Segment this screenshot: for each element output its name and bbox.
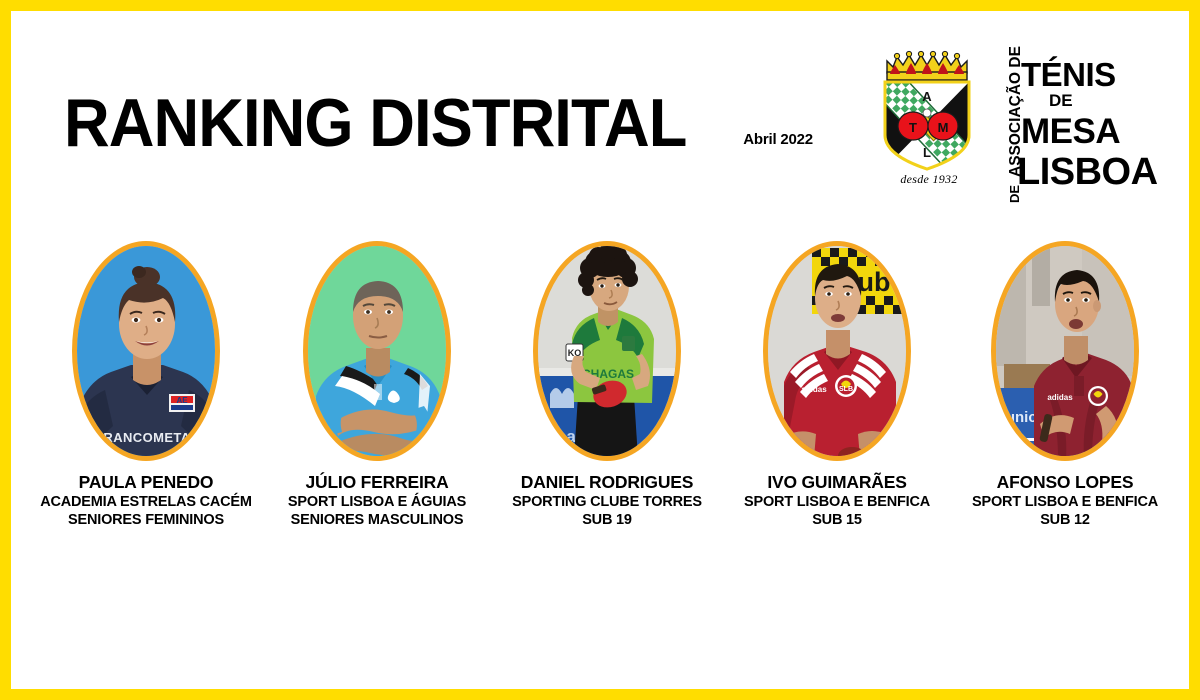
title-block: RANKING DISTRITALAbril 2022 [64,89,813,157]
logo-line-mesa: MESA [1021,115,1171,149]
player-card[interactable]: ub [722,241,952,529]
player-name: DANIEL RODRIGUES [492,472,722,493]
player-category: SUB 15 [722,512,952,529]
poster-canvas: RANKING DISTRITALAbril 2022 [11,11,1189,689]
player-photo-afonso-lopes: unicípi [996,246,1134,456]
player-card[interactable]: JÚLIO FERREIRA SPORT LISBOA E ÁGUIAS SEN… [262,241,492,529]
player-portrait: FRANCOMETAL AE [72,241,220,461]
player-name: AFONSO LOPES [950,472,1180,493]
player-caption: AFONSO LOPES SPORT LISBOA E BENFICA SUB … [950,472,1180,529]
player-photo-paula-penedo: FRANCOMETAL AE [77,246,215,456]
logo-line-tenis: TÉNIS [1021,59,1171,91]
player-club: SPORTING CLUBE TORRES [492,494,722,511]
crest-caption: desde 1932 [873,172,985,187]
player-portrait: unicípi [991,241,1139,461]
player-category: SUB 12 [950,512,1180,529]
jersey-sponsor-text: FRANCOMETAL [95,430,199,445]
player-name: JÚLIO FERREIRA [262,472,492,493]
atml-crest-icon: T M A L desde 1932 [873,43,983,203]
title-date: Abril 2022 [743,131,813,148]
player-category: SENIORES MASCULINOS [262,512,492,529]
atml-logo: T M A L desde 1932 ASSOCIAÇÃO DE DE TÉNI… [873,43,1163,208]
logo-wordmark: ASSOCIAÇÃO DE DE TÉNIS DE MESA LISBOA [993,43,1165,203]
player-photo-julio-ferreira [308,246,446,456]
svg-text:ub: ub [858,267,891,297]
player-name: IVO GUIMARÃES [722,472,952,493]
player-card[interactable]: unicípi [950,241,1180,529]
player-caption: DANIEL RODRIGUES SPORTING CLUBE TORRES S… [492,472,722,529]
svg-text:T: T [909,120,917,135]
player-club: ACADEMIA ESTRELAS CACÉM [31,494,261,511]
player-card[interactable]: unar CHAGAS KO [492,241,722,529]
svg-text:M: M [938,120,949,135]
player-club: SPORT LISBOA E BENFICA [722,494,952,511]
player-club: SPORT LISBOA E ÁGUIAS [262,494,492,511]
player-photo-ivo-guimaraes: ub [768,246,906,456]
player-caption: IVO GUIMARÃES SPORT LISBOA E BENFICA SUB… [722,472,952,529]
svg-text:AE: AE [176,396,188,405]
player-card[interactable]: FRANCOMETAL AE PAULA PENEDO ACADEMIA EST… [31,241,261,529]
page-title: RANKING DISTRITAL [64,89,686,157]
player-photo-daniel-rodrigues: unar CHAGAS KO [538,246,676,456]
player-portrait: unar CHAGAS KO [533,241,681,461]
svg-text:A: A [922,89,932,104]
player-name: PAULA PENEDO [31,472,261,493]
logo-line-lisboa: LISBOA [1017,154,1171,191]
player-club: SPORT LISBOA E BENFICA [950,494,1180,511]
player-caption: PAULA PENEDO ACADEMIA ESTRELAS CACÉM SEN… [31,472,261,529]
player-category: SUB 19 [492,512,722,529]
svg-text:adidas: adidas [1047,393,1073,402]
player-portrait: ub [763,241,911,461]
players-row: FRANCOMETAL AE PAULA PENEDO ACADEMIA EST… [11,241,1189,571]
svg-text:L: L [923,145,931,160]
svg-text:SLB: SLB [839,386,853,393]
logo-line-de: DE [1049,93,1171,110]
svg-text:adidas: adidas [801,385,827,394]
player-portrait [303,241,451,461]
poster-header: RANKING DISTRITALAbril 2022 [11,11,1189,226]
player-category: SENIORES FEMININOS [31,512,261,529]
logo-stack: TÉNIS DE MESA LISBOA [1021,43,1171,192]
player-caption: JÚLIO FERREIRA SPORT LISBOA E ÁGUIAS SEN… [262,472,492,529]
